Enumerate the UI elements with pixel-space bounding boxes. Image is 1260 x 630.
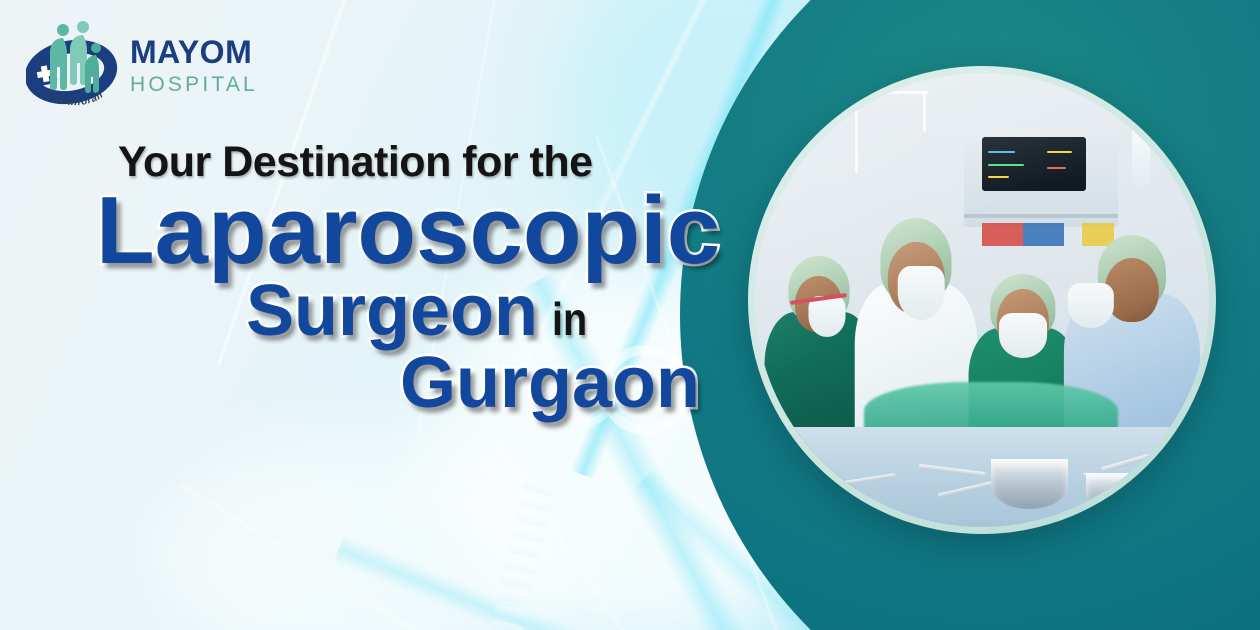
headline-line-2: Surgeon [246, 271, 538, 351]
hospital-ring-people-cross-icon: Healthforall [26, 14, 122, 114]
brand-subtitle: HOSPITAL [130, 74, 258, 95]
headline-line-1-row: Laparoscopic [96, 187, 700, 275]
background-glow [150, 430, 570, 630]
headline-line-2-row: Surgeonin [246, 275, 700, 347]
headline-block: Your Destination for the Laparoscopic Su… [0, 138, 700, 419]
photo-sheen [755, 73, 1209, 527]
headline-line-3-row: Gurgaon [400, 347, 700, 419]
brand-logo-wordmark: MAYOM HOSPITAL [130, 36, 258, 95]
headline-line-3: Gurgaon [400, 343, 700, 423]
headline-connector: in [552, 296, 587, 342]
hero-banner: Healthforall MAYOM HOSPITAL Your Destina… [0, 0, 1260, 630]
brand-logo[interactable]: Healthforall MAYOM HOSPITAL [26, 14, 236, 122]
surgery-photo-frame [748, 66, 1216, 534]
brand-name: MAYOM [130, 36, 258, 68]
equipment-pole [1141, 82, 1144, 123]
background-ray [179, 481, 489, 630]
background-cyan-band [333, 535, 697, 630]
headline-line-1: Laparoscopic [96, 177, 720, 284]
surgery-photo [755, 73, 1209, 527]
background-spine-motif [477, 479, 559, 630]
